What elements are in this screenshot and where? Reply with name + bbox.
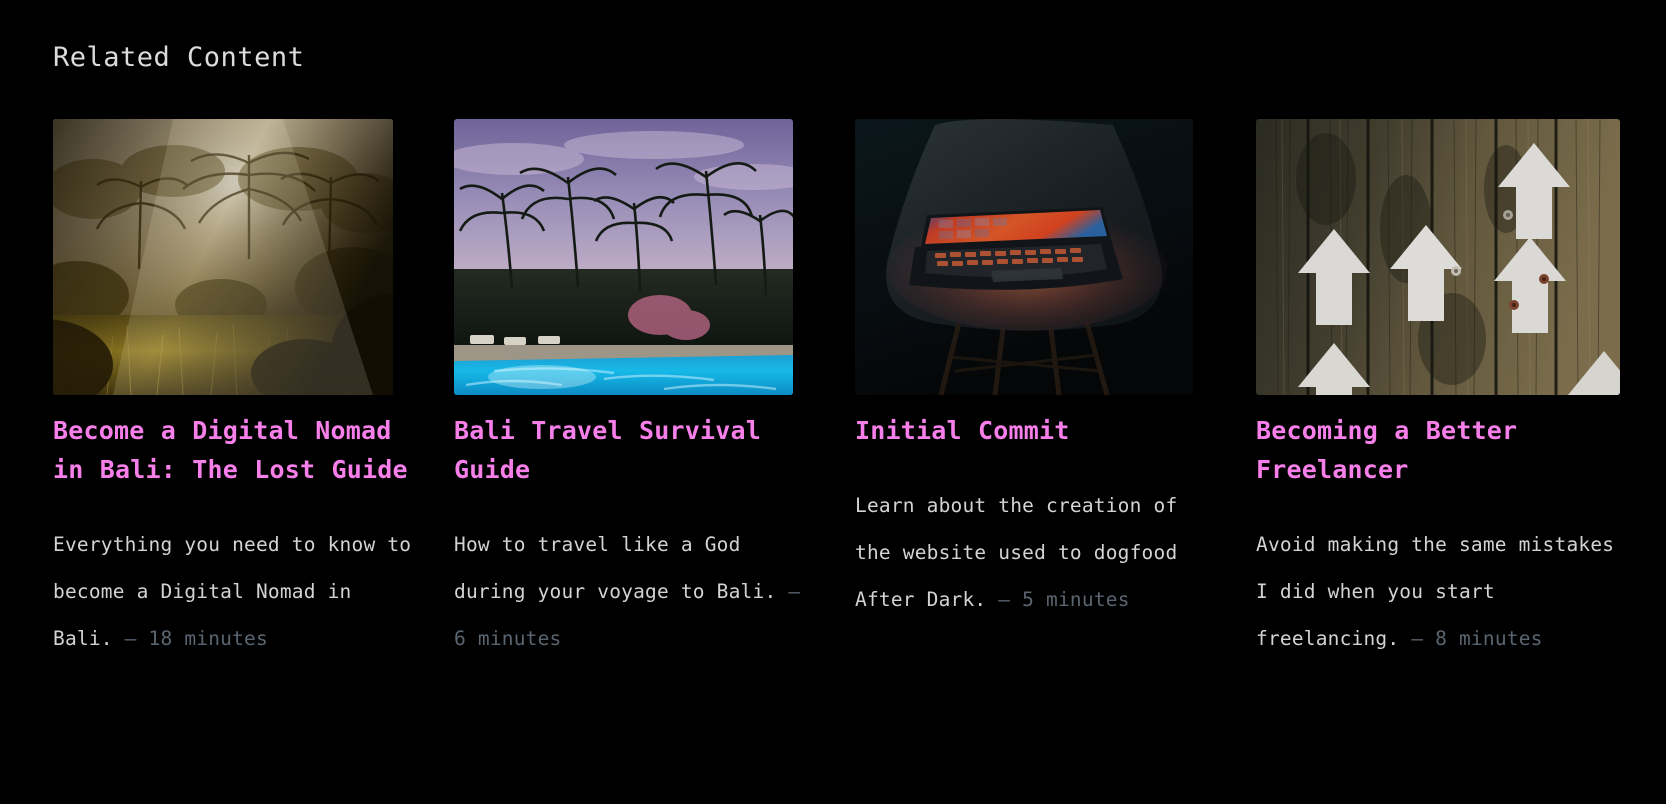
page-title: Related Content [53, 40, 304, 76]
card-excerpt: How to travel like a God during your voy… [454, 521, 818, 662]
list-item[interactable]: Become a Digital Nomad in Bali: The Lost… [53, 119, 417, 662]
card-excerpt-text: How to travel like a God during your voy… [454, 533, 776, 603]
card-title[interactable]: Become a Digital Nomad in Bali: The Lost… [53, 411, 417, 489]
list-item[interactable]: Bali Travel Survival Guide How to travel… [454, 119, 818, 662]
card-read-time: — 5 minutes [998, 588, 1129, 611]
card-title[interactable]: Bali Travel Survival Guide [454, 411, 818, 489]
bali-pool-sunset-photo[interactable] [454, 119, 793, 395]
list-item[interactable]: Becoming a Better Freelancer Avoid makin… [1256, 119, 1620, 662]
card-title[interactable]: Becoming a Better Freelancer [1256, 411, 1620, 489]
related-content-card-grid: Become a Digital Nomad in Bali: The Lost… [53, 119, 1666, 662]
related-content-section: Related Content [0, 0, 1666, 804]
laptop-on-chair-photo[interactable] [855, 119, 1193, 395]
card-read-time: — 8 minutes [1411, 627, 1542, 650]
bali-jungle-palm-trees-photo[interactable] [53, 119, 393, 395]
card-excerpt: Everything you need to know to become a … [53, 521, 417, 662]
card-excerpt: Learn about the creation of the website … [855, 482, 1219, 623]
card-excerpt: Avoid making the same mistakes I did whe… [1256, 521, 1620, 662]
card-read-time: — 18 minutes [125, 627, 268, 650]
list-item[interactable]: Initial Commit Learn about the creation … [855, 119, 1219, 662]
white-arrows-on-wood-photo[interactable] [1256, 119, 1620, 395]
card-title[interactable]: Initial Commit [855, 411, 1219, 450]
